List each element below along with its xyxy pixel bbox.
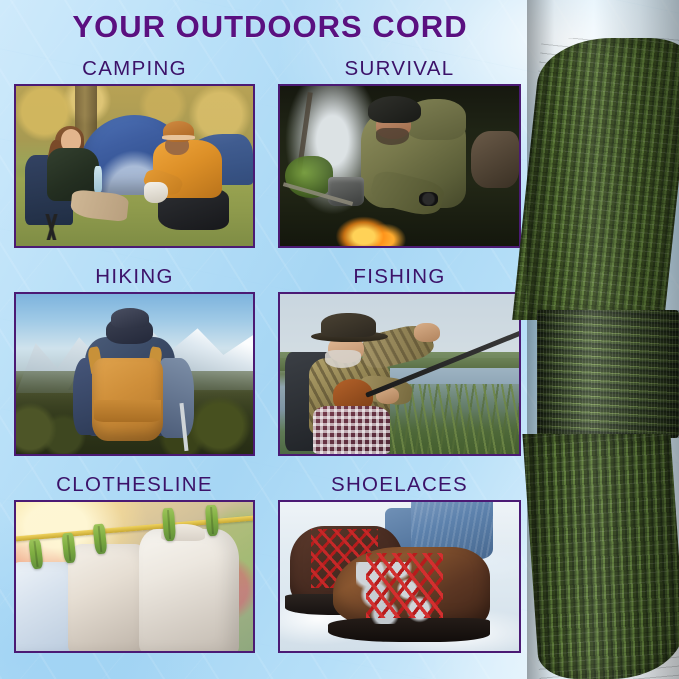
use-case-photo-clothesline xyxy=(14,500,255,653)
backpack-flap xyxy=(94,400,160,422)
boy-plaid-shirt xyxy=(313,406,389,454)
use-case-label-fishing: FISHING xyxy=(278,264,521,292)
use-case-grid: CAMPING SURVIVAL xyxy=(14,56,521,658)
use-case-label-clothesline: CLOTHESLINE xyxy=(14,472,255,500)
paracord-strands-bottom xyxy=(522,434,679,679)
angler-hat xyxy=(321,313,376,337)
use-case-survival: SURVIVAL xyxy=(278,56,521,253)
use-case-clothesline: CLOTHESLINE xyxy=(14,472,255,658)
use-case-photo-shoelaces xyxy=(278,500,521,653)
use-case-photo-hiking xyxy=(14,292,255,456)
water-bottle xyxy=(94,166,102,192)
use-case-photo-survival xyxy=(278,84,521,248)
camp-bowl xyxy=(144,182,168,203)
use-case-photo-fishing xyxy=(278,292,521,456)
rock xyxy=(471,131,519,189)
paracord-wrapped-coil xyxy=(537,310,679,438)
camp-chair-legs xyxy=(25,214,77,240)
use-case-label-hiking: HIKING xyxy=(14,264,255,292)
use-case-shoelaces: SHOELACES xyxy=(278,472,521,658)
angler-raised-hand xyxy=(414,323,440,342)
use-case-label-shoelaces: SHOELACES xyxy=(278,472,521,500)
use-case-label-camping: CAMPING xyxy=(14,56,255,84)
use-case-hiking: HIKING xyxy=(14,264,255,461)
hiker-beanie xyxy=(111,308,149,327)
paracord-strands-top xyxy=(512,38,679,320)
hiker-arm-right xyxy=(158,358,194,438)
clothespin xyxy=(205,505,219,537)
wristwatch xyxy=(419,192,438,206)
use-case-label-survival: SURVIVAL xyxy=(278,56,521,84)
use-case-fishing: FISHING xyxy=(278,264,521,461)
survivalist-beanie xyxy=(368,96,421,123)
man-beanie xyxy=(163,121,194,142)
campfire-flame xyxy=(335,214,407,246)
page-title: YOUR OUTDOORS CORD xyxy=(0,9,540,45)
use-case-photo-camping xyxy=(14,84,255,248)
red-laces-front xyxy=(366,553,442,619)
hanging-garment-3 xyxy=(139,529,239,653)
angler-beard xyxy=(325,350,361,368)
use-case-camping: CAMPING xyxy=(14,56,255,253)
paracord-hank xyxy=(527,0,679,679)
